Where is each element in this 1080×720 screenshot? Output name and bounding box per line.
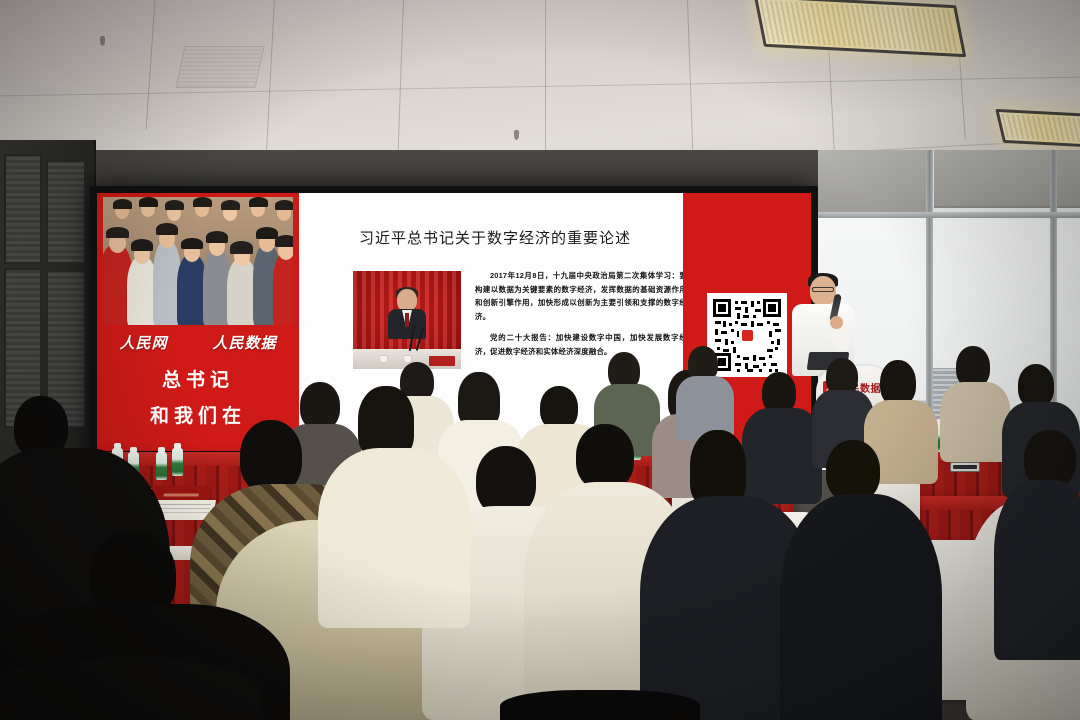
leader-photo bbox=[353, 271, 461, 369]
logo-renminwang: 人民网 bbox=[119, 332, 167, 353]
smartphone bbox=[950, 462, 980, 472]
screen-left-panel: 人民网 人民数据 总书记 和我们在 bbox=[97, 193, 299, 451]
window-blind bbox=[934, 150, 1080, 208]
presenter-hand bbox=[830, 316, 843, 329]
water-bottle bbox=[172, 448, 183, 476]
logo-renminshuju: 人民数据 bbox=[212, 332, 276, 353]
glass-pane bbox=[46, 160, 86, 264]
sprinkler-head bbox=[514, 130, 519, 140]
window-transom bbox=[818, 212, 1080, 218]
water-bottle bbox=[156, 452, 167, 480]
qr-code bbox=[707, 293, 787, 377]
screen-logos: 人民网 人民数据 bbox=[97, 327, 299, 357]
ceiling-light bbox=[754, 0, 967, 57]
foreground-silhouette bbox=[500, 690, 700, 720]
slide-body: 2017年12月8日，十九届中央政治局第二次集体学习：要构建以数据为关键要素的数… bbox=[475, 269, 687, 367]
ceiling-light bbox=[995, 109, 1080, 149]
foreground-silhouette bbox=[0, 660, 260, 720]
ceiling-vent bbox=[176, 46, 265, 88]
window-blind bbox=[818, 150, 928, 214]
headline-line-1: 总书记 bbox=[97, 363, 299, 399]
conference-room-scene: 人民网 人民数据 总书记 和我们在 习近平总书记关于数字经济的重要论述 bbox=[0, 0, 1080, 720]
slide-title: 习近平总书记关于数字经济的重要论述 bbox=[359, 227, 631, 248]
slide-paragraph-1: 2017年12月8日，十九届中央政治局第二次集体学习：要构建以数据为关键要素的数… bbox=[475, 269, 687, 323]
sprinkler-head bbox=[100, 36, 105, 46]
slide-paragraph-2: 党的二十大报告：加快建设数字中国，加快发展数字经济，促进数字经济和实体经济深度融… bbox=[475, 331, 687, 358]
glass-pane bbox=[4, 154, 42, 264]
group-photo bbox=[103, 197, 293, 325]
glasses-icon bbox=[812, 287, 834, 292]
